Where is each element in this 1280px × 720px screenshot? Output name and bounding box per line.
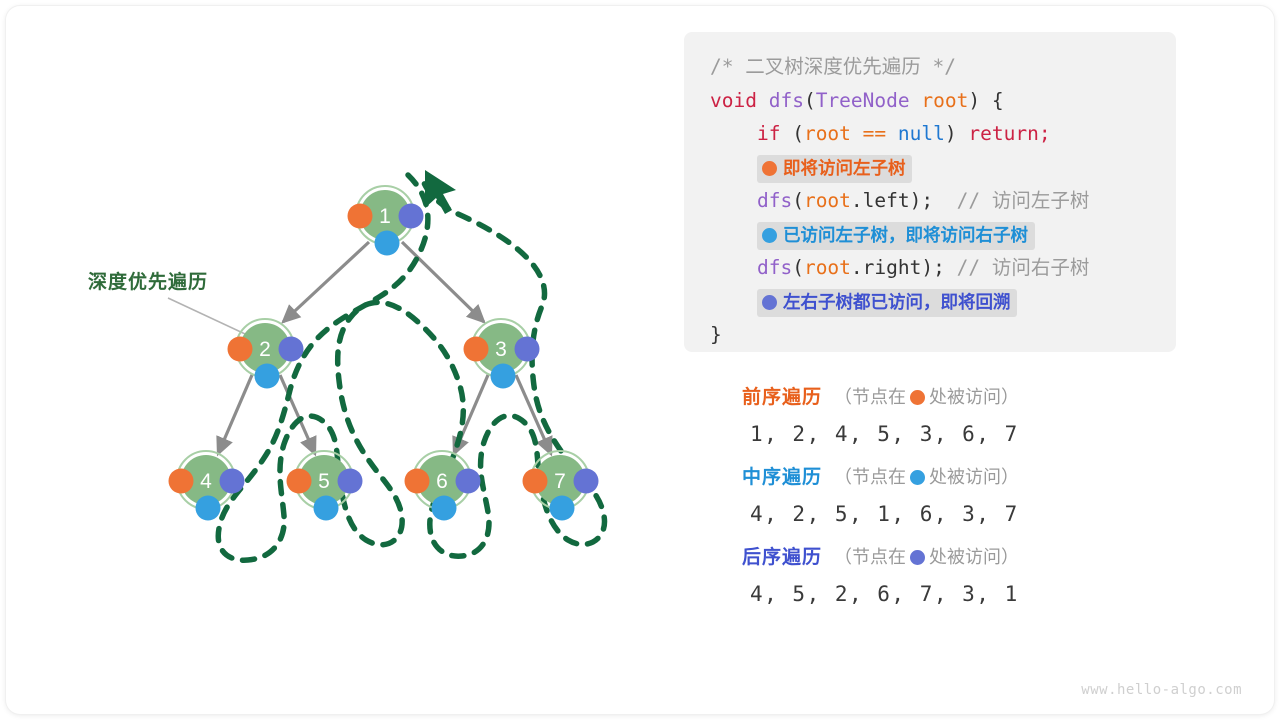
highlight-postorder: 左右子树都已访问，即将回溯 xyxy=(757,289,1018,317)
preorder-note-after: 处被访问） xyxy=(929,387,1019,407)
postorder-name: 后序遍历 xyxy=(742,547,822,568)
code-null: null xyxy=(898,122,945,145)
preorder-sequence: 1, 2, 4, 5, 3, 6, 7 xyxy=(750,422,1182,446)
code-arg-root-left: root xyxy=(804,189,851,212)
code-var-root: root xyxy=(804,122,851,145)
dfs-start-arrow xyxy=(425,170,456,214)
postorder-marker xyxy=(515,337,540,362)
code-keyword-if: if xyxy=(757,122,780,145)
code-comment-left: // 访问左子树 xyxy=(957,189,1090,212)
blue-dot-icon xyxy=(762,228,777,243)
postorder-marker xyxy=(574,469,599,494)
postorder-marker xyxy=(338,469,363,494)
node-label: 1 xyxy=(379,205,391,228)
code-type-treenode: TreeNode xyxy=(816,89,910,112)
code-comment-header: /* 二叉树深度优先遍历 */ xyxy=(710,55,956,78)
tree-node-7[interactable]: 7 xyxy=(523,451,599,521)
tree-node-1[interactable]: 1 xyxy=(348,186,424,256)
inorder-marker xyxy=(196,496,221,521)
node-label: 6 xyxy=(436,470,448,493)
preorder-marker xyxy=(169,469,194,494)
code-op-eq: == xyxy=(863,122,886,145)
traversal-group-postorder: 后序遍历（节点在处被访问） 4, 5, 2, 6, 7, 3, 1 xyxy=(742,542,1182,606)
postorder-note-before: （节点在 xyxy=(834,547,906,567)
postorder-marker xyxy=(399,204,424,229)
preorder-note-before: （节点在 xyxy=(834,387,906,407)
tree-node-4[interactable]: 4 xyxy=(169,451,245,521)
preorder-marker xyxy=(348,204,373,229)
figure-canvas: 1 2 3 xyxy=(0,0,1280,720)
inorder-sequence: 4, 2, 5, 1, 6, 3, 7 xyxy=(750,502,1182,526)
preorder-marker xyxy=(464,337,489,362)
inorder-marker xyxy=(255,364,280,389)
traversal-orders: 前序遍历（节点在处被访问） 1, 2, 4, 5, 3, 6, 7 中序遍历（节… xyxy=(742,382,1182,622)
tree-node-6[interactable]: 6 xyxy=(405,451,481,521)
traversal-group-preorder: 前序遍历（节点在处被访问） 1, 2, 4, 5, 3, 6, 7 xyxy=(742,382,1182,446)
postorder-sequence: 4, 5, 2, 6, 7, 3, 1 xyxy=(750,582,1182,606)
highlight-preorder-text: 即将访问左子树 xyxy=(783,158,906,178)
binary-tree-diagram: 1 2 3 xyxy=(40,30,670,670)
inorder-marker xyxy=(375,231,400,256)
preorder-marker xyxy=(287,469,312,494)
inorder-marker xyxy=(432,496,457,521)
node-label: 3 xyxy=(495,338,507,361)
tree-node-3[interactable]: 3 xyxy=(464,319,540,389)
code-prop-left: .left); xyxy=(851,189,933,212)
dfs-callout-label: 深度优先遍历 xyxy=(88,267,208,294)
code-content: /* 二叉树深度优先遍历 */ void dfs(TreeNode root) … xyxy=(684,32,1176,366)
node-label: 4 xyxy=(200,470,212,493)
purple-dot-icon xyxy=(762,295,777,310)
tree-nodes: 1 2 3 xyxy=(169,186,599,521)
code-closing-brace: } xyxy=(710,323,722,346)
code-signature-tail: ) { xyxy=(968,89,1003,112)
code-call-dfs-left: dfs xyxy=(757,189,792,212)
code-prop-right: .right); xyxy=(851,256,945,279)
node-label: 5 xyxy=(318,470,330,493)
preorder-marker xyxy=(405,469,430,494)
inorder-name: 中序遍历 xyxy=(742,467,822,488)
node-label: 2 xyxy=(259,338,271,361)
traversal-group-inorder: 中序遍历（节点在处被访问） 4, 2, 5, 1, 6, 3, 7 xyxy=(742,462,1182,526)
node-label: 7 xyxy=(554,470,566,493)
preorder-marker xyxy=(228,337,253,362)
inorder-note-before: （节点在 xyxy=(834,467,906,487)
orange-dot-icon xyxy=(910,390,925,405)
inorder-heading: 中序遍历（节点在处被访问） xyxy=(742,462,1182,493)
tree-node-2[interactable]: 2 xyxy=(228,319,304,389)
preorder-marker xyxy=(523,469,548,494)
highlight-preorder: 即将访问左子树 xyxy=(757,155,913,183)
purple-dot-icon xyxy=(910,550,925,565)
preorder-name: 前序遍历 xyxy=(742,387,822,408)
code-keyword-void: void xyxy=(710,89,757,112)
inorder-marker xyxy=(491,364,516,389)
postorder-marker xyxy=(220,469,245,494)
postorder-heading: 后序遍历（节点在处被访问） xyxy=(742,542,1182,573)
code-arg-root-right: root xyxy=(804,256,851,279)
code-fn-dfs: dfs xyxy=(769,89,804,112)
edge-1-3 xyxy=(402,242,484,322)
tree-svg: 1 2 3 xyxy=(40,30,670,670)
blue-dot-icon xyxy=(910,470,925,485)
inorder-note-after: 处被访问） xyxy=(929,467,1019,487)
postorder-marker xyxy=(279,337,304,362)
postorder-marker xyxy=(456,469,481,494)
code-block-panel: /* 二叉树深度优先遍历 */ void dfs(TreeNode root) … xyxy=(684,32,1176,352)
code-call-dfs-right: dfs xyxy=(757,256,792,279)
highlight-inorder-text: 已访问左子树，即将访问右子树 xyxy=(783,225,1028,245)
code-return: return; xyxy=(968,122,1050,145)
orange-dot-icon xyxy=(762,161,777,176)
preorder-heading: 前序遍历（节点在处被访问） xyxy=(742,382,1182,413)
inorder-marker xyxy=(550,496,575,521)
highlight-postorder-text: 左右子树都已访问，即将回溯 xyxy=(783,292,1011,312)
highlight-inorder: 已访问左子树，即将访问右子树 xyxy=(757,222,1035,250)
code-comment-right: // 访问右子树 xyxy=(957,256,1090,279)
tree-node-5[interactable]: 5 xyxy=(287,451,363,521)
watermark: www.hello-algo.com xyxy=(1081,682,1242,698)
edge-2-4 xyxy=(218,375,252,454)
inorder-marker xyxy=(314,496,339,521)
code-param-root: root xyxy=(921,89,968,112)
postorder-note-after: 处被访问） xyxy=(929,547,1019,567)
